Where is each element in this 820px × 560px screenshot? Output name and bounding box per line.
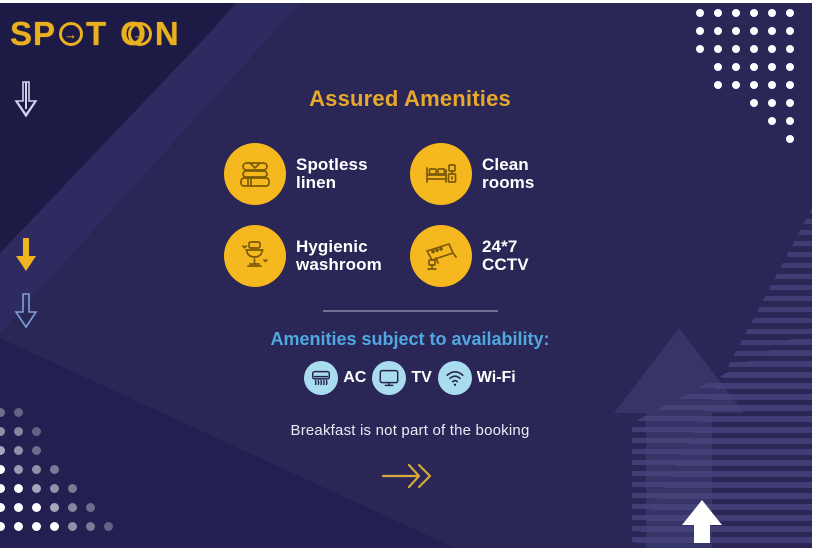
arrow-down-yellow-icon [14,235,38,273]
dot-pattern-top-right [696,9,806,139]
television-icon [372,361,406,395]
logo-o2-arrow-icon [128,22,152,46]
optional-amenity-ac: AC [304,361,366,395]
page-title: Assured Amenities [309,86,511,112]
arrow-down-white-icon [14,79,38,119]
amenity-item-hygienic-washroom: Hygienic washroom [224,215,410,297]
content-column: Assured Amenities [200,3,620,548]
folded-linen-icon [224,143,286,205]
arrow-right-gold-icon [379,461,441,491]
bed-icon [410,143,472,205]
section-divider [323,310,498,312]
amenity-item-clean-rooms: Clean rooms [410,133,596,215]
arrow-up-icon [680,498,724,548]
optional-amenity-tv: TV [372,361,431,395]
cctv-camera-icon [410,225,472,287]
wifi-icon [438,361,472,395]
optional-amenity-label-ac: AC [343,369,366,387]
promo-poster: SP T O N Assured Ameni [0,0,820,560]
amenities-grid: Spotless linen [224,133,596,297]
optional-amenity-label-tv: TV [411,369,431,387]
brand-logo: SP T O N [10,15,180,53]
optional-amenity-wifi: Wi-Fi [438,361,516,395]
logo-text-t: T [86,15,107,53]
toilet-icon [224,225,286,287]
arrow-down-blue-icon [14,291,38,329]
amenity-item-cctv: 24*7 CCTV [410,215,596,297]
air-conditioner-icon [304,361,338,395]
amenity-label-hygienic-washroom: Hygienic washroom [296,238,382,274]
optional-amenities-row: AC TV [304,361,516,395]
logo-o-arrow-icon [59,22,83,46]
logo-text-sp: SP [10,15,56,53]
optional-amenity-label-wifi: Wi-Fi [477,369,516,387]
dot-pattern-bottom-left [0,408,180,538]
amenity-item-spotless-linen: Spotless linen [224,133,410,215]
amenity-label-spotless-linen: Spotless linen [296,156,368,192]
booking-note: Breakfast is not part of the booking [290,422,529,439]
logo-text-n: N [155,15,180,53]
poster-card: SP T O N Assured Ameni [0,3,812,548]
amenity-label-cctv: 24*7 CCTV [482,238,529,274]
arrow-up-large-icon [604,318,754,548]
amenity-label-clean-rooms: Clean rooms [482,156,534,192]
subheading: Amenities subject to availability: [270,329,549,350]
